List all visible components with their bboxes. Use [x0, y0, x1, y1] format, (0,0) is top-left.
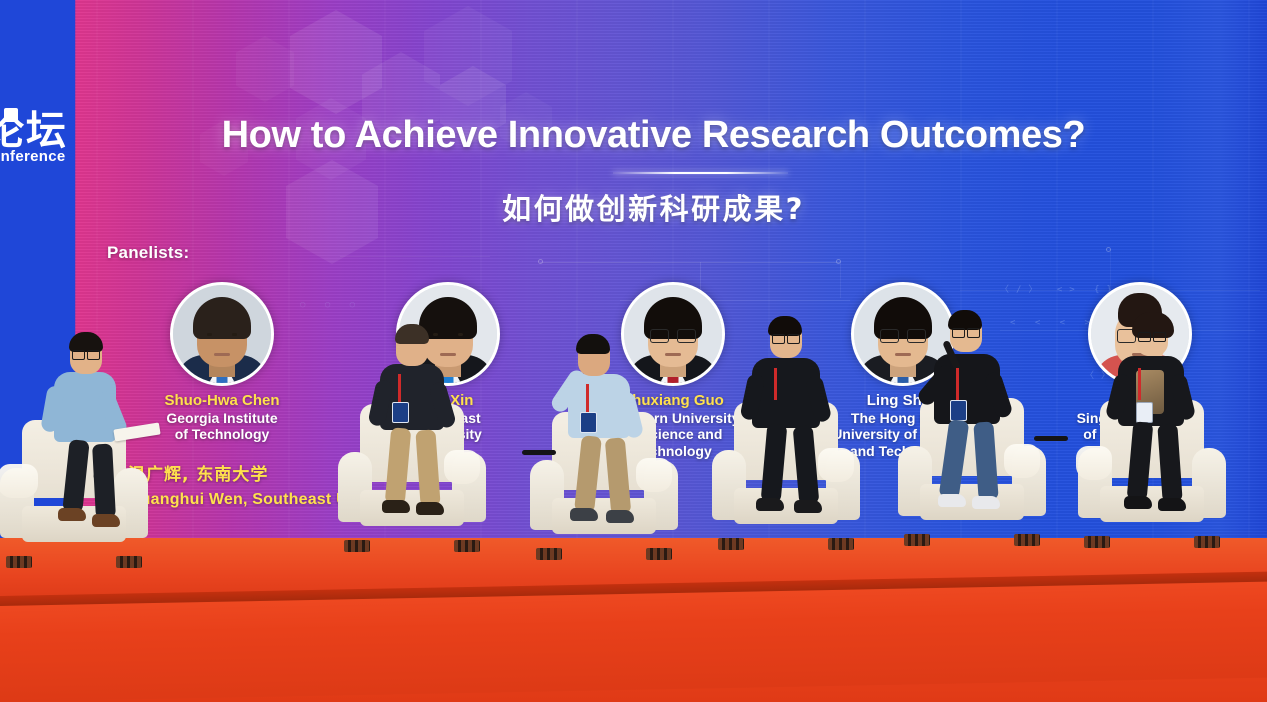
chair-doily: [636, 458, 672, 492]
lanyard: [1138, 368, 1141, 400]
panelist-avatar: [170, 282, 274, 386]
eyeglasses-icon: [880, 329, 926, 341]
slide-title-english: How to Achieve Innovative Research Outco…: [0, 114, 1267, 157]
panelists-label: Panelists:: [107, 243, 189, 263]
table-microphone-icon: [522, 450, 556, 455]
chair-doily: [1076, 446, 1112, 480]
badge: [392, 402, 409, 423]
eyeglasses-icon: [772, 334, 800, 342]
chair-doily: [444, 450, 480, 484]
panelist-name: Shuo-Hwa Chen: [132, 392, 312, 410]
slide-title-chinese: 如何做创新科研成果?: [0, 186, 1267, 228]
badge: [580, 412, 597, 433]
panelist-card: Shuo-Hwa Chen Georgia Institute of Techn…: [132, 282, 312, 443]
chair-doily: [0, 464, 38, 498]
badge: [950, 400, 967, 421]
eyeglasses-icon: [72, 350, 100, 358]
chair-doily: [1004, 444, 1040, 478]
eyeglasses-icon: [650, 329, 696, 341]
conference-panel-photo: 〈/〉 <> {} [] < < < > > 〈〉 <> :: ○ ○ ○ 论坛…: [0, 0, 1267, 702]
eyeglasses-icon: [952, 328, 980, 336]
lanyard: [956, 368, 959, 400]
lanyard: [774, 368, 777, 400]
panelist-avatar: [621, 282, 725, 386]
eyeglasses-icon: [1138, 332, 1166, 340]
title-divider-rule: [613, 172, 788, 174]
chair-doily: [818, 448, 854, 482]
table-microphone-icon: [1034, 436, 1068, 441]
badge: [1136, 402, 1153, 423]
